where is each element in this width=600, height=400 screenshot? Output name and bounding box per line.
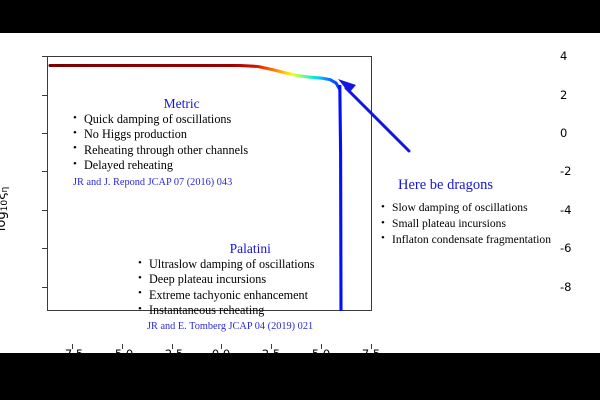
x-tick-label: 0.0 <box>212 347 230 353</box>
x-tick-label: -7.5 <box>61 347 83 353</box>
y-tickmark <box>42 133 47 134</box>
y-tick-label: 0 <box>560 126 600 140</box>
palatini-bullet-item: Extreme tachyonic enhancement <box>138 288 315 303</box>
palatini-bullet-item: Deep plateau incursions <box>138 272 315 287</box>
y-tickmark <box>42 56 47 57</box>
y-tickmark <box>42 95 47 96</box>
annotation-metric: Metric Quick damping of oscillations No … <box>73 96 248 188</box>
palatini-bullet-item: Ultraslow damping of oscillations <box>138 257 315 272</box>
metric-citation: JR and J. Repond JCAP 07 (2016) 043 <box>73 177 248 188</box>
palatini-title: Palatini <box>186 241 315 256</box>
y-tick-label: -2 <box>560 164 600 178</box>
y-tickmark <box>42 210 47 211</box>
y-tickmark <box>42 248 47 249</box>
slide-content-area: 4 2 0 -2 -4 -6 -8 -7.5 -5.0 -2.5 0.0 2.5… <box>0 33 600 353</box>
y-axis-label-symbol-sub: η <box>0 187 10 193</box>
x-tick-label: 2.5 <box>262 347 280 353</box>
annotation-palatini: Palatini Ultraslow damping of oscillatio… <box>138 241 315 332</box>
metric-bullet-item: Quick damping of oscillations <box>73 112 248 127</box>
dragons-bullet-item: Slow damping of oscillations <box>381 200 551 216</box>
y-tick-label: 2 <box>560 88 600 102</box>
x-tick-label: 7.5 <box>362 347 380 353</box>
y-tick-label: -8 <box>560 280 600 294</box>
palatini-bullet-list: Ultraslow damping of oscillations Deep p… <box>138 257 315 319</box>
palatini-bullet-item: Instantaneous reheating <box>138 303 315 318</box>
dragons-bullet-item: Inflaton condensate fragmentation <box>381 232 551 248</box>
dragons-title: Here be dragons <box>398 177 551 193</box>
dragons-bullet-item: Small plateau incursions <box>381 216 551 232</box>
y-tick-label: -6 <box>560 241 600 255</box>
dragons-bullet-list: Slow damping of oscillations Small plate… <box>381 200 551 247</box>
y-axis-label-prefix: log <box>0 211 9 231</box>
palatini-citation: JR and E. Tomberg JCAP 04 (2019) 021 <box>147 321 315 332</box>
y-axis-label: log10ξη <box>0 187 10 231</box>
y-tickmark <box>42 171 47 172</box>
y-axis-label-symbol: ξ <box>0 193 9 200</box>
y-tick-label: 4 <box>560 49 600 63</box>
y-tickmark <box>42 287 47 288</box>
x-tick-label: -5.0 <box>111 347 133 353</box>
metric-bullet-item: Reheating through other channels <box>73 143 248 158</box>
metric-bullet-item: Delayed reheating <box>73 158 248 173</box>
x-tick-label: 5.0 <box>312 347 330 353</box>
annotation-dragons: Here be dragons Slow damping of oscillat… <box>381 177 551 248</box>
y-tick-label: -4 <box>560 203 600 217</box>
slide-canvas: 4 2 0 -2 -4 -6 -8 -7.5 -5.0 -2.5 0.0 2.5… <box>0 0 600 400</box>
metric-bullet-item: No Higgs production <box>73 127 248 142</box>
y-axis-label-base: 10 <box>0 200 10 212</box>
x-tick-label: -2.5 <box>161 347 183 353</box>
metric-title: Metric <box>115 96 248 111</box>
metric-bullet-list: Quick damping of oscillations No Higgs p… <box>73 112 248 174</box>
